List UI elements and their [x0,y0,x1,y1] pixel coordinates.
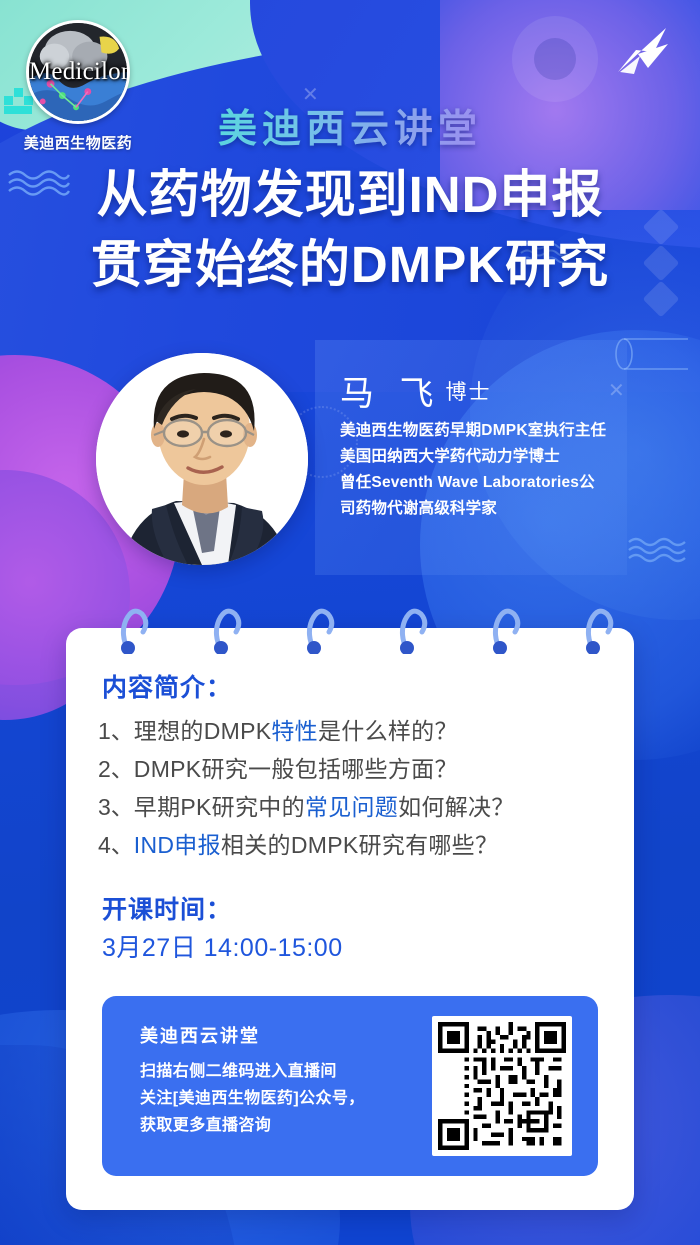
speaker-bio-line: 美国田纳西大学药代动力学博士 [340,444,630,470]
list-item-text-pre: 理想的DMPK [134,718,272,744]
list-item-text-pre: 早期PK研究中的 [134,794,305,820]
speaker-name: 马 飞 [340,375,441,413]
list-item-text-post: 相关的DMPK研究有哪些？ [221,832,498,858]
list-item-number: 2、 [98,756,134,782]
schedule-value: 3月27日 14:00-15:00 [102,928,343,964]
list-item-highlight: 常见问题 [305,794,398,820]
poster-title: 从药物发现到IND申报 贯穿始终的DMPK研究 [0,160,700,300]
binder-rings [66,600,634,660]
list-item: 2、DMPK研究一般包括哪些方面？ [98,750,618,788]
list-item: 4、IND申报相关的DMPK研究有哪些？ [98,826,618,864]
speaker-bio-line: 司药物代谢高级科学家 [340,496,630,522]
list-item-text-pre: DMPK研究一般包括哪些方面？ [134,756,458,782]
cta-line: 关注[美迪西生物医药]公众号， [140,1085,430,1112]
binder-ring-icon [397,604,431,650]
speaker-title-suffix: 博士 [445,381,491,404]
brand-logo: Medicilon 美迪西生物医药 [18,20,138,153]
logo-wordmark: Medicilon [29,58,127,86]
logo-chinese-name: 美迪西生物医药 [18,132,138,153]
cta-line: 获取更多直播咨询 [140,1112,430,1139]
title-line-2: 贯穿始终的DMPK研究 [0,230,700,300]
binder-ring-icon [583,604,617,650]
cta-panel[interactable]: 美迪西云讲堂 扫描右侧二维码进入直播间 关注[美迪西生物医药]公众号， 获取更多… [102,996,598,1176]
wave-lines-icon [628,535,686,565]
cta-line: 扫描右侧二维码进入直播间 [140,1058,430,1085]
cta-title: 美迪西云讲堂 [140,1022,260,1048]
speaker-portrait [96,353,308,565]
circle-ring-decoration [512,16,598,102]
list-item-text-post: 是什么样的？ [318,718,458,744]
list-item-number: 1、 [98,718,134,744]
speaker-bio: 美迪西生物医药早期DMPK室执行主任 美国田纳西大学药代动力学博士 曾任Seve… [340,418,630,522]
list-item: 3、早期PK研究中的常见问题如何解决？ [98,788,618,826]
list-item-text-post: 如何解决？ [398,794,515,820]
list-item-highlight: IND申报 [134,832,221,858]
content-list: 1、理想的DMPK特性是什么样的？ 2、DMPK研究一般包括哪些方面？ 3、早期… [98,712,618,864]
list-item-number: 4、 [98,832,134,858]
binder-ring-icon [490,604,524,650]
content-card: 内容简介： 1、理想的DMPK特性是什么样的？ 2、DMPK研究一般包括哪些方面… [66,628,634,1210]
logo-badge: Medicilon [26,20,130,124]
list-item-number: 3、 [98,794,134,820]
paper-plane-icon [610,22,672,85]
promotional-poster: ✕ ✕ [0,0,700,1245]
speaker-bio-line: 曾任Seventh Wave Laboratories公 [340,470,630,496]
list-item: 1、理想的DMPK特性是什么样的？ [98,712,618,750]
qr-code-icon[interactable] [432,1016,572,1156]
binder-ring-icon [118,604,152,650]
speaker-name-block: 马 飞博士 [340,366,491,415]
binder-ring-icon [211,604,245,650]
speaker-bio-line: 美迪西生物医药早期DMPK室执行主任 [340,418,630,444]
list-item-highlight: 特性 [271,718,318,744]
content-heading: 内容简介： [102,668,232,704]
title-line-1: 从药物发现到IND申报 [0,160,700,230]
binder-ring-icon [304,604,338,650]
schedule-heading: 开课时间： [102,890,232,926]
cta-instructions: 扫描右侧二维码进入直播间 关注[美迪西生物医药]公众号， 获取更多直播咨询 [140,1058,430,1139]
